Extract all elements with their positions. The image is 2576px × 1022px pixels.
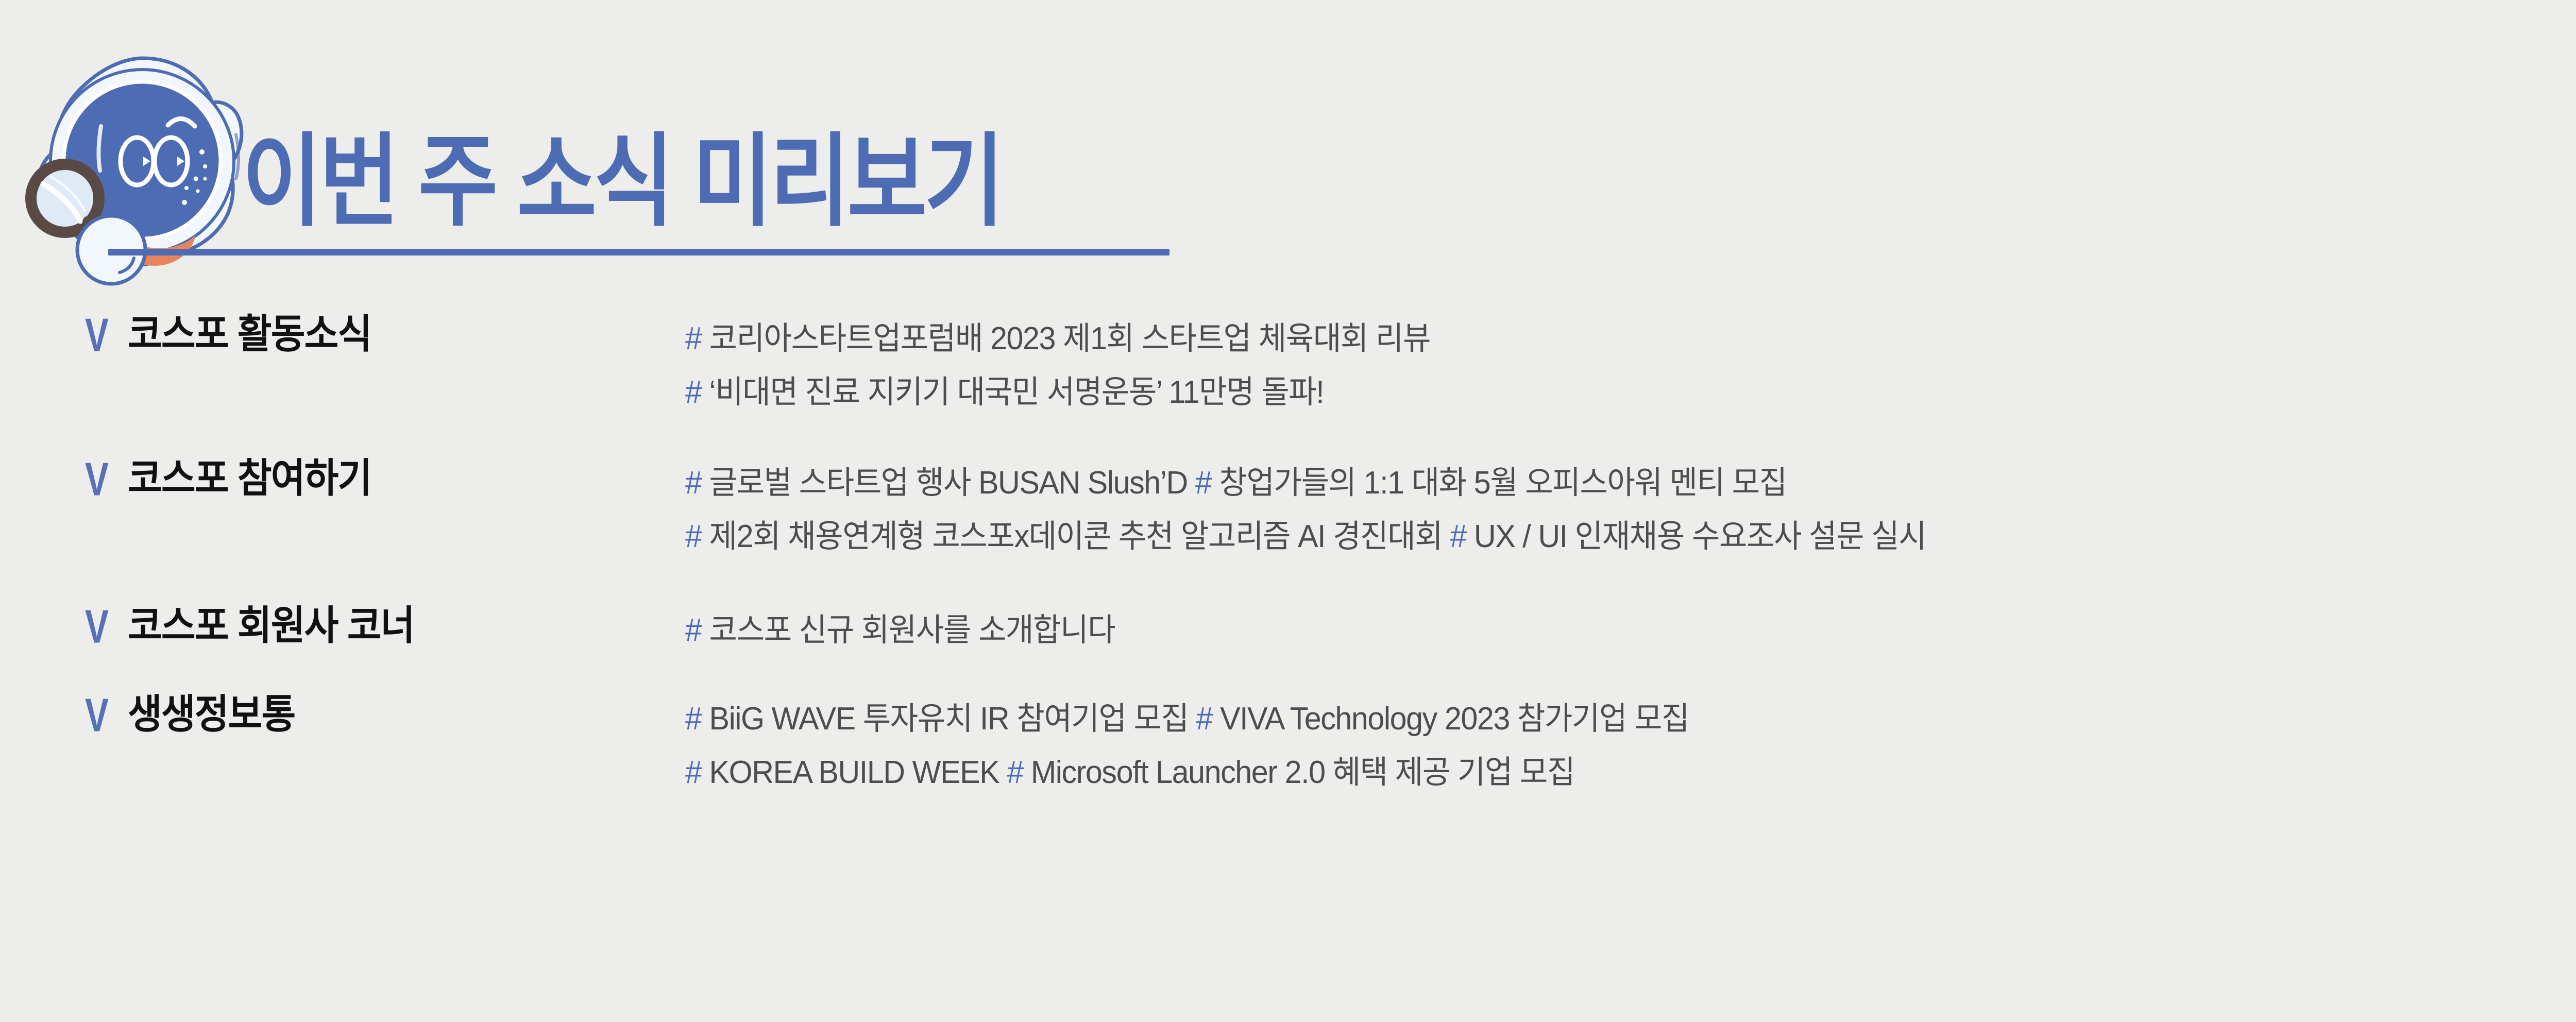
sections-list: V 코스포 활동소식 # 코리아스타트업포럼배 2023 제1회 스타트업 체육… (0, 309, 2576, 799)
section-body: # 글로벌 스타트업 행사 BUSAN Slush’D # 창업가들의 1:1 … (685, 453, 2576, 564)
hash-icon: # (1007, 755, 1023, 790)
list-item[interactable]: # 코리아스타트업포럼배 2023 제1회 스타트업 체육대회 리뷰 (685, 312, 2576, 366)
hash-icon: # (685, 374, 702, 410)
list-item-text-2: VIVA Technology 2023 참가기업 모집 (1220, 701, 1689, 737)
list-item-text-2: UX / UI 인재채용 수요조사 설문 실시 (1474, 519, 1926, 554)
hash-icon: # (685, 519, 702, 554)
list-item-text: 글로벌 스타트업 행사 BUSAN Slush’D (709, 465, 1188, 501)
title-underline-rule (108, 249, 1170, 255)
section-title: 생생정보통 (128, 689, 295, 739)
list-item[interactable]: # 글로벌 스타트업 행사 BUSAN Slush’D # 창업가들의 1:1 … (685, 456, 2576, 510)
section-title: 코스포 회원사 코너 (128, 601, 414, 650)
list-item-text-2: 창업가들의 1:1 대화 5월 오피스아워 멘티 모집 (1219, 465, 1786, 501)
chevron-v-icon: V (85, 453, 109, 506)
section-member-corner: V 코스포 회원사 코너 # 코스포 신규 회원사를 소개합니다 (0, 601, 2576, 657)
section-title: 코스포 참여하기 (128, 453, 371, 503)
chevron-v-icon: V (85, 689, 109, 742)
list-item-text-2: Microsoft Launcher 2.0 혜택 제공 기업 모집 (1031, 755, 1574, 790)
page-title: 이번 주 소식 미리보기 (242, 131, 2413, 232)
section-kosfo-activities: V 코스포 활동소식 # 코리아스타트업포럼배 2023 제1회 스타트업 체육… (0, 309, 2576, 419)
list-item[interactable]: # 코스포 신규 회원사를 소개합니다 (685, 604, 2576, 657)
hash-icon: # (1195, 465, 1212, 501)
hash-icon: # (685, 465, 702, 501)
hash-icon: # (1196, 701, 1213, 737)
section-heading[interactable]: V 생생정보통 (0, 689, 685, 739)
hash-icon: # (685, 701, 702, 737)
hash-icon: # (1450, 519, 1466, 554)
list-item-text: BiiG WAVE 투자유치 IR 참여기업 모집 (709, 701, 1189, 737)
list-item[interactable]: # BiiG WAVE 투자유치 IR 참여기업 모집 # VIVA Techn… (685, 692, 2576, 746)
hash-icon: # (685, 321, 702, 356)
list-item[interactable]: # 제2회 채용연계형 코스포x데이콘 추천 알고리즘 AI 경진대회 # UX… (685, 510, 2576, 564)
section-title: 코스포 활동소식 (128, 309, 371, 359)
section-kosfo-participate: V 코스포 참여하기 # 글로벌 스타트업 행사 BUSAN Slush’D #… (0, 453, 2576, 564)
list-item-text: 코리아스타트업포럼배 2023 제1회 스타트업 체육대회 리뷰 (709, 321, 1430, 356)
list-item-text: 코스포 신규 회원사를 소개합니다 (709, 612, 1115, 648)
chevron-v-icon: V (85, 601, 109, 653)
section-live-info: V 생생정보통 # BiiG WAVE 투자유치 IR 참여기업 모집 # VI… (0, 689, 2576, 799)
hash-icon: # (685, 612, 702, 648)
section-heading[interactable]: V 코스포 활동소식 (0, 309, 685, 359)
list-item-text: KOREA BUILD WEEK (709, 755, 999, 790)
list-item[interactable]: # KOREA BUILD WEEK # Microsoft Launcher … (685, 746, 2576, 799)
newsletter-preview-page: 이번 주 소식 미리보기 V 코스포 활동소식 # 코리아스타트업포럼배 202… (0, 0, 2576, 1022)
section-heading[interactable]: V 코스포 참여하기 (0, 453, 685, 503)
header: 이번 주 소식 미리보기 (0, 0, 2576, 288)
list-item[interactable]: # ‘비대면 진료 지키기 대국민 서명운동’ 11만명 돌파! (685, 366, 2576, 419)
hash-icon: # (685, 755, 702, 790)
section-body: # 코스포 신규 회원사를 소개합니다 (685, 601, 2576, 657)
section-heading[interactable]: V 코스포 회원사 코너 (0, 601, 685, 650)
section-body: # BiiG WAVE 투자유치 IR 참여기업 모집 # VIVA Techn… (685, 689, 2576, 799)
chevron-v-icon: V (85, 309, 109, 362)
list-item-text: 제2회 채용연계형 코스포x데이콘 추천 알고리즘 AI 경진대회 (709, 519, 1443, 554)
title-block: 이번 주 소식 미리보기 (242, 131, 2576, 276)
list-item-text: ‘비대면 진료 지키기 대국민 서명운동’ 11만명 돌파! (709, 374, 1324, 410)
section-body: # 코리아스타트업포럼배 2023 제1회 스타트업 체육대회 리뷰 # ‘비대… (685, 309, 2576, 419)
